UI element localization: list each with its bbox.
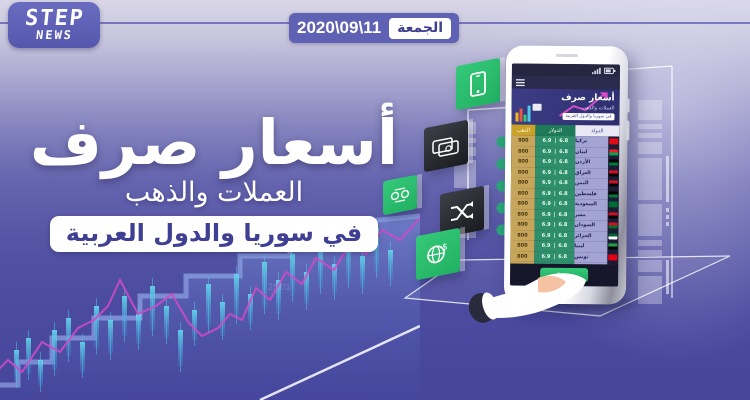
cell-sell: 6.8 — [558, 254, 567, 260]
cell-buy: 6.9 — [542, 138, 551, 144]
cell-buy: 6.9 — [542, 191, 551, 197]
cell-gold: 800 — [511, 209, 535, 220]
cell-currency: 6.9|6.8 — [535, 157, 575, 168]
country-flag-icon — [609, 223, 618, 229]
headline-block: أسعار صرف العملات والذهب في سوريا والدول… — [14, 112, 414, 252]
cell-buy: 6.9 — [542, 243, 551, 249]
cell-currency: 6.9|6.8 — [535, 199, 575, 210]
cell-currency: 6.9|6.8 — [535, 167, 575, 178]
signal-icon — [592, 67, 602, 74]
cell-gold: 800 — [511, 157, 535, 168]
infographic-canvas: 78 25 01 — [0, 0, 750, 400]
cell-gold: 800 — [511, 167, 535, 178]
cell-country: العراق — [575, 168, 608, 179]
cell-country: اليمن — [575, 178, 608, 189]
mobile-phone-icon — [467, 69, 489, 99]
cell-gold: 800 — [511, 199, 535, 210]
smartphone-mockup: أسعار صرف العملات والذهب في سوريا والدول… — [504, 45, 628, 304]
tile-credit-cards[interactable] — [424, 120, 468, 173]
cell-sell: 6.8 — [558, 243, 567, 249]
cell-sell: 6.8 — [559, 159, 568, 165]
logo-line-2: NEWS — [35, 29, 73, 42]
cell-buy: 6.9 — [542, 212, 551, 218]
headline-main: أسعار صرف — [14, 112, 414, 174]
cell-gold: 800 — [510, 251, 534, 262]
cell-sell: 6.8 — [559, 138, 568, 144]
battery-icon — [604, 67, 616, 74]
chart-annotation-1: 25 01 — [268, 282, 291, 292]
date-value: 2020\09\11 — [297, 18, 381, 38]
globe-money-icon: $ — [425, 238, 451, 269]
cell-currency: 6.9|6.8 — [534, 241, 574, 252]
headline-sub: العملات والذهب — [14, 176, 414, 210]
cell-flag — [607, 241, 618, 252]
phone-status-bar — [512, 64, 620, 77]
cell-buy: 6.9 — [541, 254, 550, 260]
phone-speaker — [556, 54, 578, 57]
cell-gold: 800 — [511, 188, 535, 199]
cell-currency: 6.9|6.8 — [535, 178, 575, 189]
header-gold: الذهب — [511, 125, 535, 136]
cell-country: الأردن — [575, 157, 608, 168]
cell-buy: 6.9 — [542, 170, 551, 176]
cell-gold: 800 — [511, 136, 535, 147]
banner-pill: في سوريا والدول العربية — [562, 113, 614, 120]
cell-flag — [608, 157, 619, 168]
cell-currency: 6.9|6.8 — [535, 220, 575, 231]
header-currency: الدولار — [535, 125, 575, 136]
cell-country: السودان — [575, 220, 608, 231]
country-flag-icon — [609, 170, 618, 176]
cell-sell: 6.8 — [559, 149, 568, 155]
cell-gold: 800 — [511, 178, 535, 189]
cell-country: لبنان — [575, 147, 608, 158]
credit-cards-icon — [432, 132, 460, 159]
cell-sell: 6.8 — [558, 222, 567, 228]
country-flag-icon — [609, 181, 618, 187]
cell-buy: 6.9 — [542, 222, 551, 228]
cell-buy: 6.9 — [542, 180, 551, 186]
cell-buy: 6.9 — [542, 159, 551, 165]
cell-sell: 6.8 — [559, 201, 568, 207]
day-name-badge: الجمعة — [389, 18, 451, 39]
cell-currency: 6.9|6.8 — [535, 209, 575, 220]
country-flag-icon — [609, 139, 618, 145]
tile-globe-money[interactable]: $ — [416, 228, 460, 281]
phone-side-button-1[interactable] — [626, 99, 630, 113]
cell-gold: 800 — [510, 241, 534, 252]
cell-flag — [608, 189, 619, 200]
cell-flag — [608, 178, 619, 189]
hand-pressing-search — [468, 268, 588, 342]
cell-currency: 6.9|6.8 — [535, 146, 575, 157]
hamburger-menu-icon[interactable] — [516, 78, 525, 86]
cell-gold: 800 — [510, 230, 534, 241]
cell-flag — [607, 252, 618, 263]
country-flag-icon — [609, 191, 618, 197]
svg-text:$: $ — [442, 242, 448, 253]
cell-sell: 6.8 — [559, 191, 568, 197]
banner-title: أسعار صرف — [561, 93, 615, 103]
phone-app-bar — [512, 76, 620, 90]
currency-table: الذهب الدولار الدولة 8006.9|6.8تركيا8006… — [510, 125, 619, 273]
table-body: 8006.9|6.8تركيا8006.9|6.8لبنان8006.9|6.8… — [510, 136, 619, 273]
cell-flag — [608, 136, 619, 147]
cell-buy: 6.9 — [542, 233, 551, 239]
cell-country: ليبيا — [574, 241, 607, 252]
exchange-shuffle-icon — [449, 198, 475, 225]
country-flag-icon — [608, 244, 617, 250]
country-flag-icon — [609, 149, 618, 155]
cell-currency: 6.9|6.8 — [534, 251, 574, 262]
logo-line-1: STEP — [23, 9, 84, 29]
cell-buy: 6.9 — [542, 149, 551, 155]
cell-country: تركيا — [575, 136, 608, 147]
headline-pill: في سوريا والدول العربية — [50, 216, 378, 252]
cell-currency: 6.9|6.8 — [535, 136, 575, 147]
cell-country: السعودية — [575, 199, 608, 210]
cell-flag — [608, 220, 619, 231]
cell-country: تونس — [574, 252, 607, 263]
in-app-banner: أسعار صرف العملات والذهب في سوريا والدول… — [511, 89, 619, 126]
cell-flag — [608, 147, 619, 158]
cell-gold: 800 — [511, 146, 535, 157]
cell-sell: 6.8 — [558, 233, 567, 239]
country-flag-icon — [609, 212, 618, 218]
country-flag-icon — [609, 160, 618, 166]
cell-sell: 6.8 — [559, 212, 568, 218]
cell-currency: 6.9|6.8 — [534, 230, 574, 241]
cell-country: الجزائر — [574, 231, 607, 242]
cell-flag — [608, 210, 619, 221]
banner-subtitle: العملات والذهب — [582, 105, 615, 111]
cell-flag — [608, 168, 619, 179]
phone-screen: أسعار صرف العملات والذهب في سوريا والدول… — [510, 64, 620, 287]
step-news-logo[interactable]: STEP NEWS — [8, 2, 100, 48]
cell-buy: 6.9 — [542, 201, 551, 207]
date-badge: 2020\09\11 الجمعة — [289, 13, 459, 43]
banner-chart-icon — [514, 101, 542, 123]
country-flag-icon — [609, 202, 618, 208]
cell-sell: 6.8 — [559, 170, 568, 176]
cell-country: فلسطين — [575, 189, 608, 200]
cell-flag — [607, 231, 618, 242]
country-flag-icon — [608, 254, 617, 260]
cell-sell: 6.8 — [559, 180, 568, 186]
tile-mobile-phone[interactable] — [456, 58, 500, 111]
country-flag-icon — [608, 233, 617, 239]
cell-gold: 800 — [511, 220, 535, 231]
cell-currency: 6.9|6.8 — [535, 188, 575, 199]
cell-country: مصر — [575, 210, 608, 221]
cell-flag — [608, 199, 619, 210]
phone-side-button-2[interactable] — [625, 121, 629, 141]
header-country: الدولة — [575, 125, 619, 136]
